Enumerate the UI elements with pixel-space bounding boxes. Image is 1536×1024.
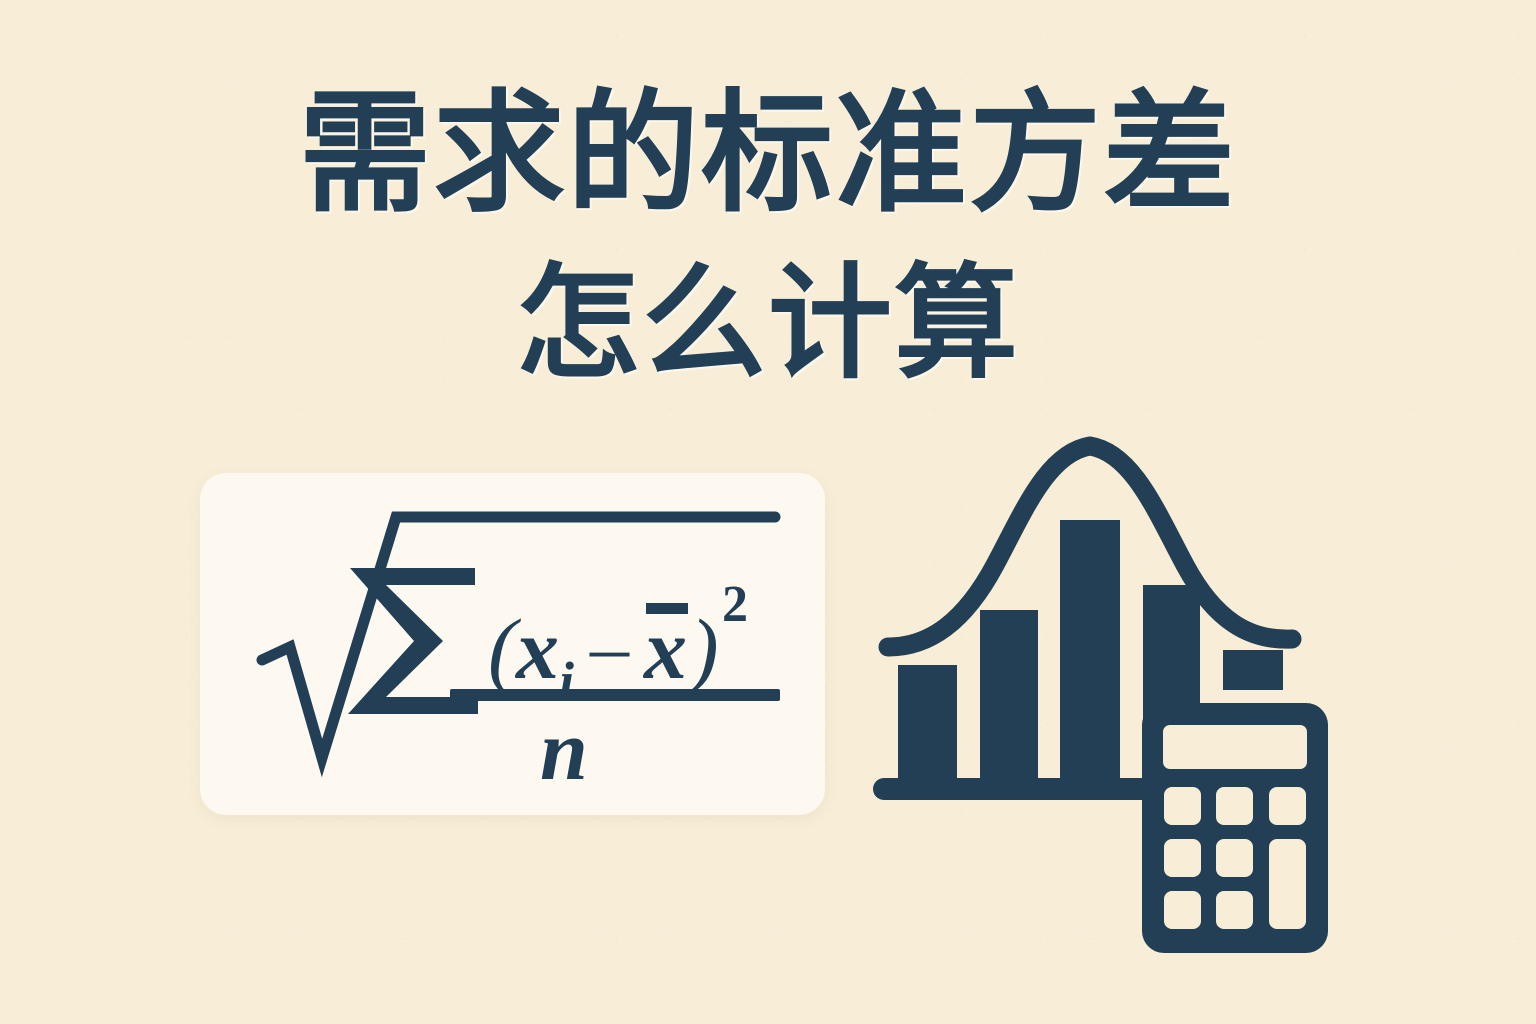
bar-2 — [980, 610, 1038, 778]
minus-sign: – — [589, 603, 630, 690]
statistics-illustration — [855, 425, 1355, 985]
standard-deviation-formula: ( x i – x ) 2 n — [200, 473, 825, 815]
poster-canvas: 需求的标准方差 怎么计算 √( Σ(xᵢ − x̄)² / n ) ( x i … — [0, 0, 1536, 1024]
page-title-line-1: 需求的标准方差 — [0, 88, 1536, 220]
calculator-icon — [1142, 703, 1328, 953]
bar-1 — [898, 665, 957, 778]
calculator-display — [1163, 725, 1307, 769]
calculator-key-4 — [1164, 839, 1201, 877]
calculator-key-1 — [1164, 787, 1201, 825]
variable-x: x — [514, 601, 559, 697]
mean-x: x — [642, 601, 687, 697]
formula-card: √( Σ(xᵢ − x̄)² / n ) ( x i – x ) 2 — [200, 473, 825, 815]
page-title-line-2: 怎么计算 — [0, 262, 1536, 386]
denominator-n: n — [540, 702, 588, 798]
calculator-key-5 — [1216, 839, 1253, 877]
bar-5 — [1223, 650, 1283, 690]
fraction-bar — [450, 689, 780, 701]
exponent-two: 2 — [722, 576, 748, 633]
mean-overbar — [646, 603, 688, 614]
calculator-key-7 — [1164, 891, 1201, 929]
calculator-key-8 — [1216, 891, 1253, 929]
bar-3 — [1060, 520, 1120, 778]
calculator-key-2 — [1216, 787, 1253, 825]
calculator-key-plus-tall — [1269, 839, 1306, 929]
close-paren: ) — [685, 601, 719, 697]
calculator-key-3 — [1269, 787, 1306, 825]
